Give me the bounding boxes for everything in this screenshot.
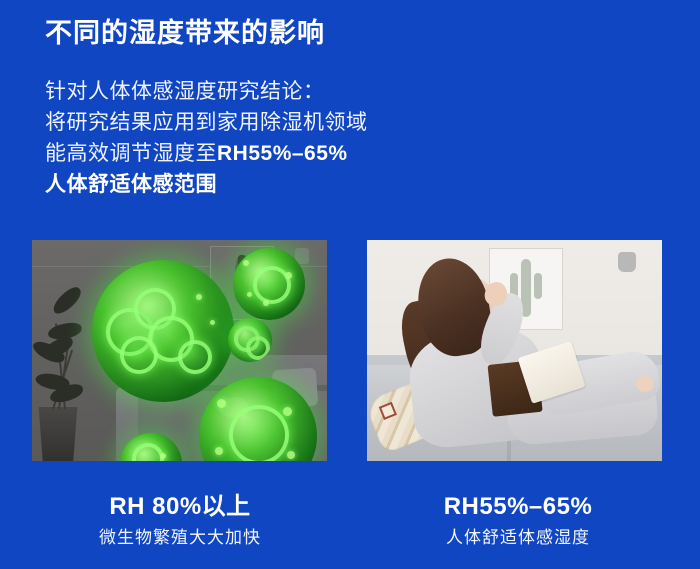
panel-high-humidity	[32, 240, 327, 461]
caption-subtitle-left: 微生物繁殖大大加快	[10, 526, 350, 550]
body-line-1: 针对人体体感湿度研究结论：	[45, 76, 368, 107]
body-line-3-highlight: RH55%–65%	[217, 142, 348, 165]
woman-reading	[367, 240, 662, 461]
caption-comfort-humidity: RH55%–65% 人体舒适体感湿度	[348, 492, 688, 550]
humidity-effects-poster: 不同的湿度带来的影响 针对人体体感湿度研究结论： 将研究结果应用到家用除湿机领域…	[0, 0, 700, 569]
microbe-cluster-large	[92, 260, 234, 402]
panel-comfort-humidity	[367, 240, 662, 461]
comparison-panels	[0, 240, 700, 461]
body-line-4: 人体舒适体感范围	[45, 169, 368, 200]
photo-dim-room-microbes	[32, 240, 327, 461]
microbe-medium	[233, 248, 305, 320]
caption-title-right: RH55%–65%	[348, 492, 688, 522]
page-title: 不同的湿度带来的影响	[45, 17, 325, 51]
caption-subtitle-right: 人体舒适体感湿度	[348, 526, 688, 550]
panel-captions: RH 80%以上 微生物繁殖大大加快 RH55%–65% 人体舒适体感湿度	[0, 492, 700, 562]
body-copy: 针对人体体感湿度研究结论： 将研究结果应用到家用除湿机领域 能高效调节湿度至RH…	[45, 76, 368, 200]
foot	[636, 376, 654, 392]
microbe-small	[228, 318, 272, 362]
caption-high-humidity: RH 80%以上 微生物繁殖大大加快	[10, 492, 350, 550]
caption-title-left: RH 80%以上	[10, 492, 350, 522]
body-line-2: 将研究结果应用到家用除湿机领域	[45, 107, 368, 138]
photo-bright-room-woman-reading	[367, 240, 662, 461]
body-line-3-prefix: 能高效调节湿度至	[45, 142, 217, 165]
plant-pot	[36, 407, 80, 461]
body-line-3: 能高效调节湿度至RH55%–65%	[45, 138, 368, 169]
